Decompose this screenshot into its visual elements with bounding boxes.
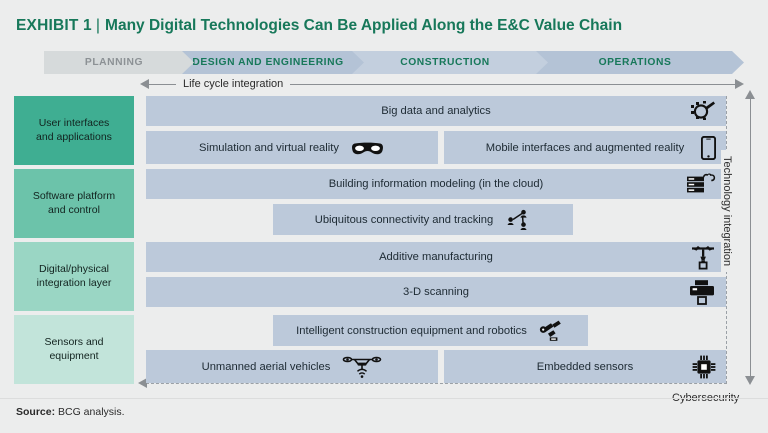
category-label: Software platform and control (33, 190, 115, 217)
technology-bar[interactable]: Mobile interfaces and augmented reality (444, 131, 726, 164)
technology-bar-label: Ubiquitous connectivity and tracking (315, 214, 493, 226)
technology-bar[interactable]: Intelligent construction equipment and r… (273, 315, 588, 346)
technology-axis-label: Technology integration (721, 150, 733, 272)
technology-integration-axis (744, 90, 758, 385)
exhibit-label: EXHIBIT 1 (16, 17, 92, 35)
technology-bar[interactable]: Building information modeling (in the cl… (146, 169, 726, 199)
value-chain-stage-label: PLANNING (85, 57, 153, 68)
technology-bar-label: Intelligent construction equipment and r… (296, 325, 527, 337)
category-1: User interfaces and applications (14, 96, 134, 165)
value-chain-stage-operations[interactable]: OPERATIONS (536, 51, 744, 74)
footer-divider (0, 398, 768, 399)
technology-bar[interactable]: Big data and analytics (146, 96, 726, 126)
lifecycle-axis-label: Life cycle integration (176, 76, 290, 93)
value-chain-stage-construction[interactable]: CONSTRUCTION (352, 51, 548, 74)
value-chain-stage-design-and-engineering[interactable]: DESIGN AND ENGINEERING (182, 51, 364, 74)
value-chain-header: PLANNINGDESIGN AND ENGINEERINGCONSTRUCTI… (44, 51, 744, 74)
technology-bar-label: Embedded sensors (537, 361, 633, 373)
technology-bar[interactable]: Simulation and virtual reality (146, 131, 438, 164)
category-3: Digital/physical integration layer (14, 242, 134, 311)
source-text: BCG analysis. (55, 406, 124, 418)
source-label: Source: (16, 406, 55, 418)
category-label: Sensors and equipment (45, 336, 104, 363)
technology-bar-label: Simulation and virtual reality (199, 142, 339, 154)
technology-bar[interactable]: Unmanned aerial vehicles (146, 350, 438, 383)
page-title: EXHIBIT 1 | Many Digital Technologies Ca… (16, 14, 756, 38)
technology-bar-label: Unmanned aerial vehicles (202, 361, 331, 373)
title-separator: | (96, 17, 100, 35)
category-4: Sensors and equipment (14, 315, 134, 384)
category-2: Software platform and control (14, 169, 134, 238)
lifecycle-arrow-right-icon (735, 79, 744, 89)
technology-bar[interactable]: Additive manufacturing (146, 242, 726, 272)
vr-goggles-icon (351, 138, 385, 158)
drone-icon (342, 355, 382, 379)
lifecycle-integration-axis: Life cycle integration (140, 76, 744, 94)
technology-axis-line (750, 97, 751, 378)
technology-bar-label: Mobile interfaces and augmented reality (486, 142, 684, 154)
microchip-icon (692, 355, 716, 379)
title-text: Many Digital Technologies Can Be Applied… (105, 17, 622, 35)
magnifier-icon (690, 100, 716, 122)
cloud-server-icon (686, 173, 716, 195)
technology-bar-label: Additive manufacturing (379, 251, 493, 263)
value-chain-stage-planning[interactable]: PLANNING (44, 51, 194, 74)
technology-arrow-down-icon (745, 376, 755, 385)
connected-users-icon (505, 208, 531, 232)
technology-bar[interactable]: 3-D scanning (146, 277, 726, 307)
robot-arm-icon (539, 319, 565, 343)
technology-arrow-up-icon (745, 90, 755, 99)
source-note: Source: BCG analysis. (16, 406, 125, 418)
value-chain-stage-label: CONSTRUCTION (400, 57, 500, 68)
lifecycle-arrow-left-icon (140, 79, 149, 89)
category-label: User interfaces and applications (36, 117, 112, 144)
smartphone-icon (701, 136, 716, 160)
category-label: Digital/physical integration layer (37, 263, 112, 290)
technology-bar-label: 3-D scanning (403, 286, 469, 298)
value-chain-stage-label: DESIGN AND ENGINEERING (192, 57, 353, 68)
technology-bar[interactable]: Ubiquitous connectivity and tracking (273, 204, 573, 235)
technology-bar-label: Big data and analytics (381, 105, 490, 117)
value-chain-stage-label: OPERATIONS (599, 57, 682, 68)
technology-bar-label: Building information modeling (in the cl… (329, 178, 544, 190)
technology-bar[interactable]: Embedded sensors (444, 350, 726, 383)
3d-printer-arm-icon (690, 244, 716, 270)
scanner-icon (688, 279, 716, 305)
